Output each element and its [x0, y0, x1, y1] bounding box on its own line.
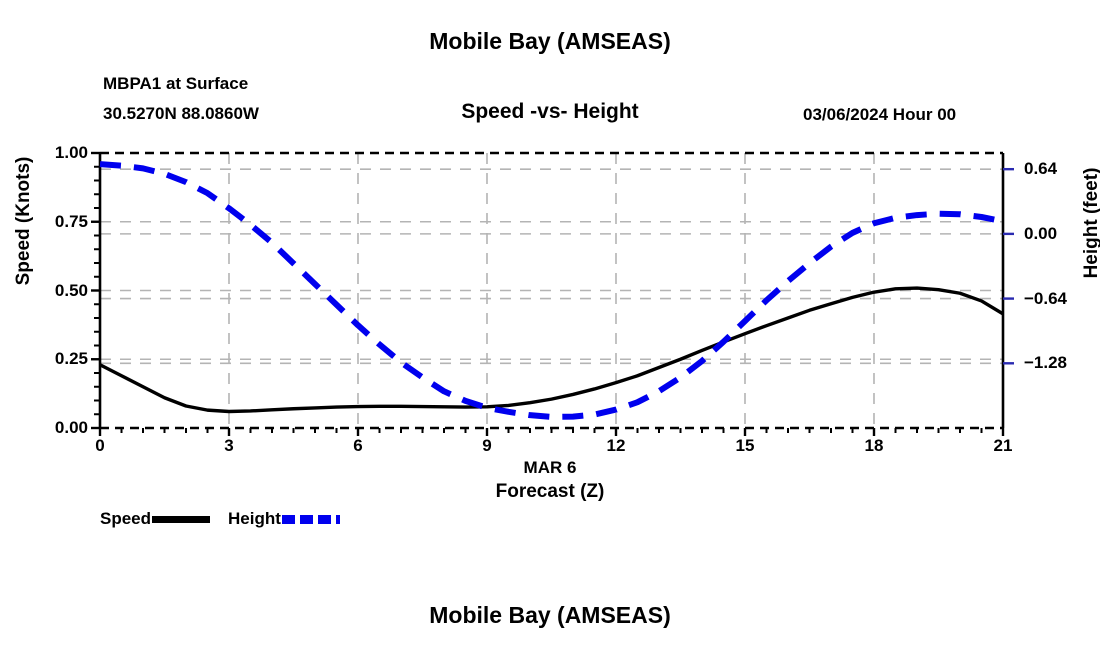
y-tick-left: 0.50: [0, 281, 88, 301]
y-tick-right: 0.64: [1024, 159, 1100, 179]
legend-item-speed: Speed: [100, 507, 210, 531]
y-tick-left: 1.00: [0, 143, 88, 163]
y-tick-right: −0.64: [1024, 289, 1100, 309]
x-tick: 9: [457, 436, 517, 456]
x-tick: 15: [715, 436, 775, 456]
x-tick: 18: [844, 436, 904, 456]
chart-title-bottom: Mobile Bay (AMSEAS): [0, 602, 1100, 629]
chart-figure: Mobile Bay (AMSEAS) MBPA1 at Surface 30.…: [0, 0, 1100, 650]
legend-swatch: [282, 515, 340, 524]
legend-item-height: Height: [228, 507, 340, 531]
x-tick: 12: [586, 436, 646, 456]
x-axis-label: Forecast (Z): [0, 481, 1100, 503]
legend-label: Height: [228, 509, 281, 529]
legend-label: Speed: [100, 509, 151, 529]
y-tick-right: −1.28: [1024, 353, 1100, 373]
legend-swatch: [152, 516, 210, 523]
y-tick-right: 0.00: [1024, 224, 1100, 244]
series-speed-line: [100, 288, 1003, 411]
plot-canvas: [0, 0, 1100, 650]
y-tick-left: 0.75: [0, 212, 88, 232]
x-tick: 3: [199, 436, 259, 456]
x-tick: 21: [973, 436, 1033, 456]
y-tick-left: 0.25: [0, 349, 88, 369]
x-tick: 0: [70, 436, 130, 456]
y-tick-left: 0.00: [0, 418, 88, 438]
x-axis-date-label: MAR 6: [0, 458, 1100, 478]
x-tick: 6: [328, 436, 388, 456]
